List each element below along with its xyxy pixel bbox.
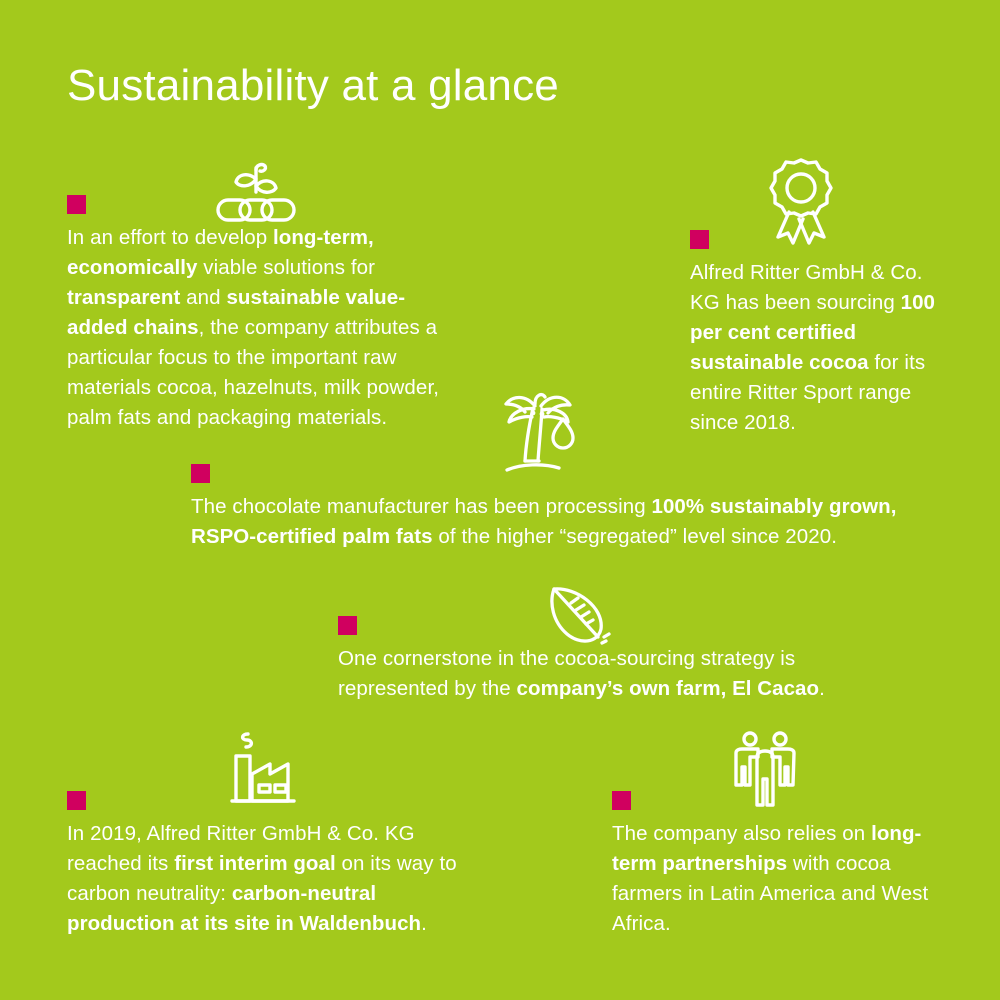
fact-text-certified-cocoa: Alfred Ritter GmbH & Co. KG has been sou…: [690, 258, 945, 438]
fact-marker: [612, 791, 631, 810]
fact-marker: [191, 464, 210, 483]
fact-block-carbon-neutral: In 2019, Alfred Ritter GmbH & Co. KG rea…: [67, 791, 467, 939]
fact-marker: [338, 616, 357, 635]
fact-block-supply-chains: In an effort to develop long-term, econo…: [67, 195, 457, 433]
fact-block-palm-fats: The chocolate manufacturer has been proc…: [191, 464, 911, 552]
fact-block-el-cacao: One cornerstone in the cocoa-sourcing st…: [338, 616, 878, 704]
fact-text-palm-fats: The chocolate manufacturer has been proc…: [191, 492, 911, 552]
fact-marker: [690, 230, 709, 249]
fact-marker: [67, 195, 86, 214]
fact-text-carbon-neutral: In 2019, Alfred Ritter GmbH & Co. KG rea…: [67, 819, 467, 939]
fact-block-partnerships: The company also relies on long-term par…: [612, 791, 932, 939]
fact-text-partnerships: The company also relies on long-term par…: [612, 819, 932, 939]
page-title: Sustainability at a glance: [67, 62, 559, 110]
fact-text-el-cacao: One cornerstone in the cocoa-sourcing st…: [338, 644, 878, 704]
fact-marker: [67, 791, 86, 810]
fact-block-certified-cocoa: Alfred Ritter GmbH & Co. KG has been sou…: [690, 230, 945, 438]
fact-text-supply-chains: In an effort to develop long-term, econo…: [67, 223, 457, 433]
infographic-canvas: Sustainability at a glance: [0, 0, 1000, 1000]
palm-tree-oil-icon: [497, 382, 583, 475]
